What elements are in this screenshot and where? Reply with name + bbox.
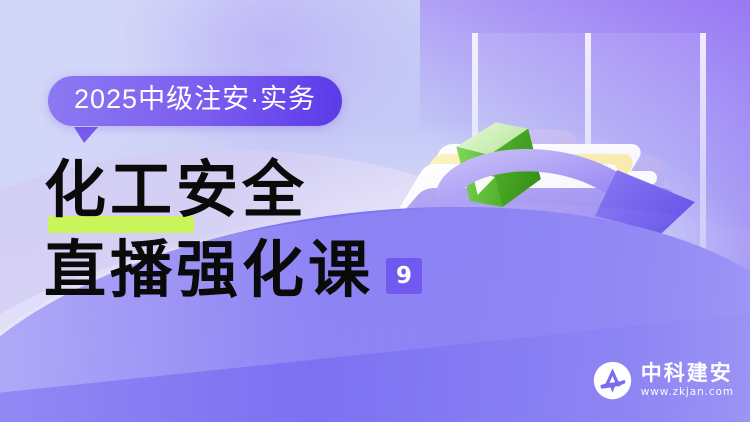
- brand-name: 中科建安: [641, 363, 734, 384]
- headline-line-2: 直播强化课: [44, 232, 374, 308]
- kicker-badge: 2025中级注安·实务: [48, 76, 342, 126]
- brand-text: 中科建安 www.zkjan.com: [641, 363, 734, 398]
- episode-number-badge: 9: [386, 258, 422, 294]
- headline-row-2: 直播强化课 9: [44, 230, 474, 308]
- kicker-badge-tail: [74, 127, 98, 143]
- headline-line-1: 化工安全: [44, 152, 474, 228]
- course-promo-banner: 2025中级注安·实务 化工安全 直播强化课 9 中科建安 www.zkjan.…: [0, 0, 750, 422]
- logo-mark-icon: [593, 361, 632, 400]
- headline-block: 化工安全 直播强化课 9: [44, 152, 474, 308]
- headline-row-1: 化工安全: [44, 152, 474, 230]
- brand-url: www.zkjan.com: [641, 387, 734, 398]
- brand-logo: 中科建安 www.zkjan.com: [593, 361, 734, 400]
